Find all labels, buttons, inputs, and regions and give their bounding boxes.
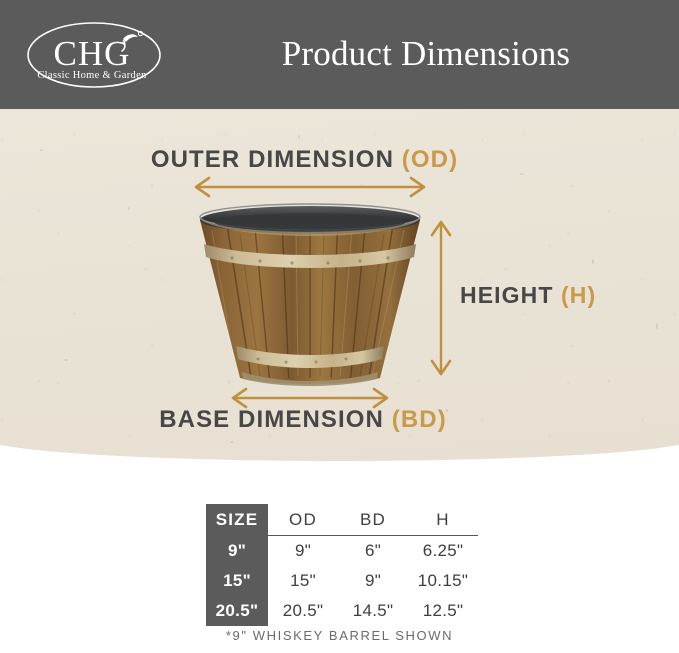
table-row: 20.5" 20.5" 14.5" 12.5": [206, 596, 478, 626]
column-header-size: SIZE: [206, 504, 268, 536]
cell-h: 6.25": [408, 536, 478, 567]
base-dimension-abbr: (BD): [392, 406, 447, 433]
header-bar: CHG Classic Home & Garden Product Dimens…: [0, 0, 679, 109]
dimensions-table: SIZE OD BD H 9" 9" 6" 6.25" 15" 15" 9" 1…: [206, 504, 478, 626]
cell-bd: 6": [338, 536, 408, 567]
texture-speck: [128, 207, 130, 210]
page-title: Product Dimensions: [0, 33, 679, 75]
cell-bd: 9": [338, 566, 408, 596]
table-row: 15" 15" 9" 10.15": [206, 566, 478, 596]
base-dimension-label: BASE DIMENSION (BD): [0, 406, 679, 434]
cell-od: 9": [268, 536, 338, 567]
height-dimension-text: HEIGHT: [460, 282, 561, 308]
cell-od: 15": [268, 566, 338, 596]
cell-size: 20.5": [206, 596, 268, 626]
cell-size: 15": [206, 566, 268, 596]
column-header-od: OD: [268, 504, 338, 536]
height-dimension-abbr: (H): [561, 282, 596, 308]
texture-speck: [230, 441, 233, 443]
whiskey-barrel-planter-image: [188, 200, 432, 386]
height-dimension-label: HEIGHT (H): [460, 282, 596, 309]
diagram-panel: OUTER DIMENSION (OD): [0, 109, 679, 471]
column-header-h: H: [408, 504, 478, 536]
outer-dimension-arrow: [190, 176, 430, 198]
product-dimensions-infographic: CHG Classic Home & Garden Product Dimens…: [0, 0, 679, 653]
table-row: 9" 9" 6" 6.25": [206, 536, 478, 567]
column-header-bd: BD: [338, 504, 408, 536]
table-header-row: SIZE OD BD H: [206, 504, 478, 536]
outer-dimension-abbr: (OD): [402, 146, 458, 173]
cell-bd: 14.5": [338, 596, 408, 626]
height-dimension-arrow: [430, 216, 452, 380]
cell-size: 9": [206, 536, 268, 567]
cell-od: 20.5": [268, 596, 338, 626]
cell-h: 12.5": [408, 596, 478, 626]
texture-speck: [64, 359, 68, 361]
cell-h: 10.15": [408, 566, 478, 596]
outer-dimension-text: OUTER DIMENSION: [151, 146, 402, 173]
texture-speck: [592, 259, 594, 264]
dimensions-table-wrapper: SIZE OD BD H 9" 9" 6" 6.25" 15" 15" 9" 1…: [206, 504, 478, 626]
footnote-text: *9" WHISKEY BARREL SHOWN: [0, 628, 679, 643]
base-dimension-text: BASE DIMENSION: [159, 406, 392, 433]
texture-speck: [298, 135, 300, 139]
texture-speck: [656, 323, 658, 329]
outer-dimension-label: OUTER DIMENSION (OD): [0, 146, 679, 174]
